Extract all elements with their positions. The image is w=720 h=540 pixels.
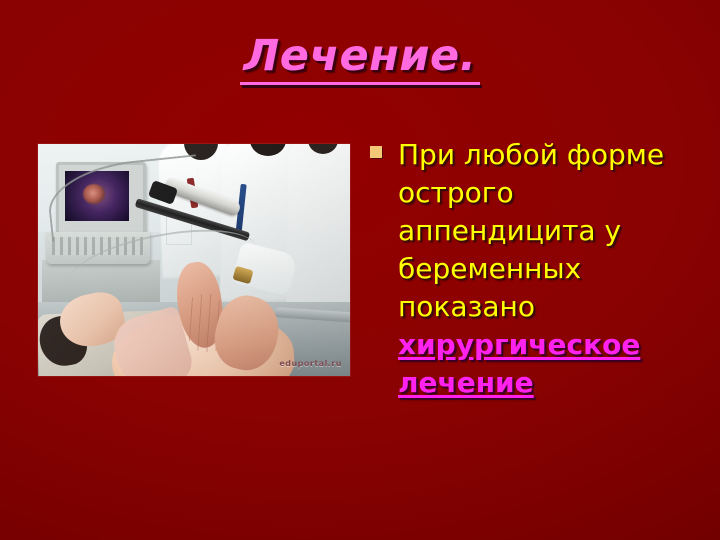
photo-lighting-overlay (38, 144, 350, 376)
bullet-text-lead: При любой форме острого аппендицита у бе… (398, 138, 664, 323)
content-block: При любой форме острого аппендицита у бе… (370, 136, 700, 402)
page-title: Лечение. (240, 34, 481, 82)
list-item: При любой форме острого аппендицита у бе… (370, 136, 700, 402)
title-block: Лечение. (0, 34, 720, 82)
medical-photo: eduportal.ru (38, 144, 350, 376)
presentation-slide: Лечение. (0, 0, 720, 540)
photo-watermark: eduportal.ru (279, 359, 342, 368)
bullet-text-emphasis: хирургическое лечение (398, 328, 640, 399)
bullet-paragraph: При любой форме острого аппендицита у бе… (398, 136, 700, 402)
square-bullet-icon (370, 146, 382, 158)
